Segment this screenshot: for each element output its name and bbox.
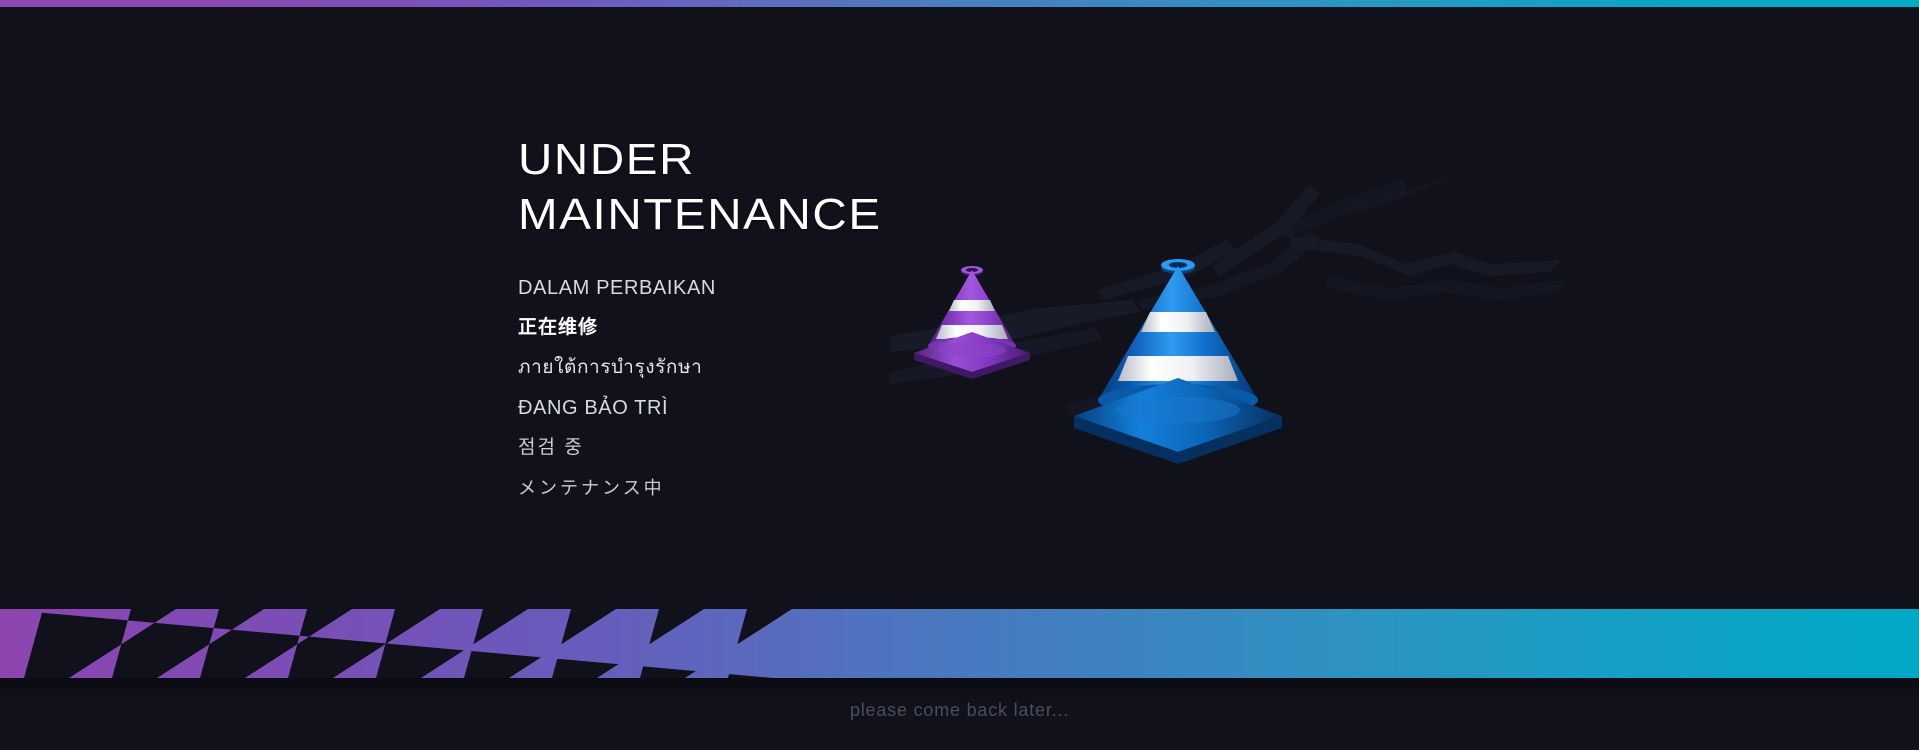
message-japanese: メンテナンス中 [518, 468, 716, 508]
top-gradient-bar [0, 0, 1919, 7]
page-title: UNDER MAINTENANCE [518, 132, 882, 242]
message-thai: ภายใต้การบำรุงรักษา [518, 348, 716, 388]
message-indonesian: DALAM PERBAIKAN [518, 268, 716, 308]
footer-note: please come back later... [0, 700, 1919, 721]
message-vietnamese: ĐANG BẢO TRÌ [518, 388, 716, 428]
hazard-stripe-band [0, 609, 1919, 678]
message-chinese: 正在维修 [518, 308, 716, 348]
traffic-cones-illustration [890, 180, 1570, 510]
maintenance-page: UNDER MAINTENANCE DALAM PERBAIKAN 正在维修 ภ… [0, 0, 1919, 750]
translated-messages-list: DALAM PERBAIKAN 正在维修 ภายใต้การบำรุงรักษา… [518, 268, 716, 508]
message-korean: 점검 중 [518, 428, 716, 468]
hazard-stripes [0, 609, 1919, 678]
